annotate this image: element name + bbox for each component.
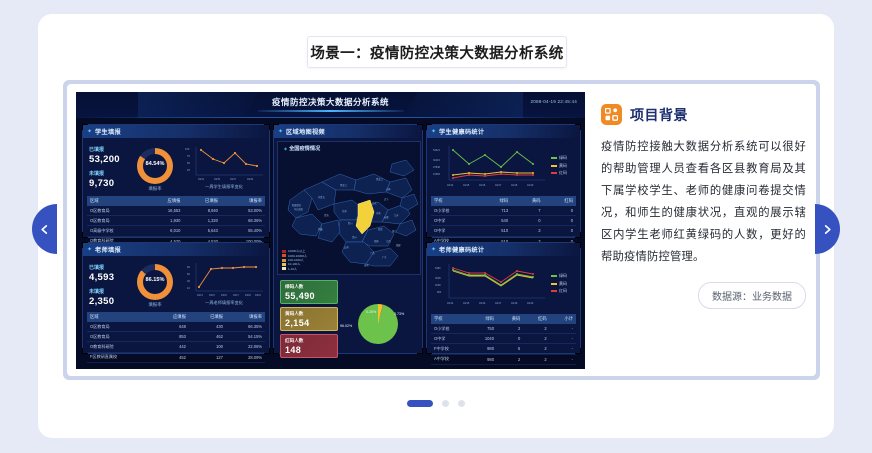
highlighted-province	[356, 200, 374, 234]
cell: 66.35%	[226, 322, 265, 332]
cell: 2	[497, 324, 523, 334]
svg-text:04/19: 04/19	[255, 295, 261, 297]
svg-text:30: 30	[187, 279, 190, 283]
col-header: 填报率	[221, 196, 265, 206]
panel-title: 学生填报	[95, 127, 121, 136]
svg-text:75: 75	[187, 154, 190, 158]
cell: 8,010	[146, 226, 184, 236]
svg-text:04/15: 04/15	[209, 295, 215, 297]
cell: 980	[470, 344, 497, 354]
map-legend: 10000人以上 1000-10000人 100-1000人 10-100人 1…	[282, 249, 307, 271]
svg-text:2048: 2048	[435, 284, 441, 287]
table-row: O中学 540 0 0	[431, 216, 576, 226]
pie-label-yellow: 3.73%	[394, 312, 404, 316]
cell: -	[550, 354, 576, 364]
cell: O区教育局	[87, 322, 152, 332]
teacher-table: 区域 应填报 已填报 填报率 O区教育局 648 430	[87, 312, 265, 363]
table-row: O区教育局 853 462 54.15%	[87, 332, 265, 342]
svg-text:04/15: 04/15	[214, 178, 221, 181]
panel-title: 学生健康码统计	[439, 127, 484, 136]
cell: 750	[470, 324, 497, 334]
cell: O中学	[431, 226, 479, 236]
table-row: A中学校 980 2 2 -	[431, 354, 576, 364]
col-header: 应填报	[146, 196, 184, 206]
pie-label-green: 96.02%	[340, 324, 352, 328]
svg-text:04/17: 04/17	[233, 295, 239, 297]
legend-label: 红码	[559, 170, 567, 175]
panel-body: 54803048 2048684 04/1404/1504/16 04/1704…	[427, 256, 580, 353]
cell: 430	[189, 322, 226, 332]
data-table: 区域 应填报 已填报 填报率 O区教育局 648 430	[87, 312, 265, 363]
cell: 2	[523, 344, 549, 354]
cell: 713	[479, 206, 511, 216]
carousel-dot-2[interactable]	[442, 400, 449, 407]
cell: O小学校	[431, 324, 470, 334]
col-header: 黄码	[511, 196, 543, 206]
panel-regional-map: ✦ 区域地图视频 全国疫情情况	[273, 124, 423, 354]
carousel-prev-button[interactable]	[32, 204, 57, 254]
svg-text:50: 50	[187, 161, 190, 165]
cell: 0	[544, 226, 576, 236]
panel-student-report: ✦ 学生填报 已填报 53,200 未填报 9,730	[82, 124, 270, 238]
svg-text:04/19: 04/19	[527, 302, 534, 305]
svg-text:04/17: 04/17	[495, 302, 502, 305]
cell: O区教育局	[87, 332, 152, 342]
panel-body: 已填报 53,200 未填报 9,730 84.54% 填报率	[83, 138, 269, 237]
cell: 980	[470, 354, 497, 364]
cell: 1,930	[146, 216, 184, 226]
table-row: F区教研直属校 452 127 28.09%	[87, 352, 265, 362]
cell: 68.36%	[221, 216, 265, 226]
student-code-table: 学校 绿码 黄码 红码 O小学校 713 7	[431, 196, 576, 247]
card-value: 148	[285, 345, 333, 355]
card-label: 绿码人数	[285, 284, 333, 290]
cell: 0	[511, 216, 543, 226]
card-label: 黄码人数	[285, 311, 333, 317]
panel-body: 全国疫情情况	[274, 138, 422, 353]
chart-caption: 一周学生填报率变化	[183, 184, 265, 190]
legend-label: 绿码	[559, 155, 567, 160]
ring-value: 86.15%	[137, 277, 173, 283]
legend-label: 红码	[559, 288, 567, 293]
svg-text:04/16: 04/16	[479, 184, 486, 187]
legend-item: 红码	[551, 287, 567, 295]
teacher-code-table: 学校 绿码 黄码 红码 小计 O小学校 750	[431, 314, 576, 365]
chevron-right-icon	[822, 224, 833, 235]
sparkle-icon: ✦	[87, 247, 92, 253]
cell: -	[550, 334, 576, 344]
svg-text:04/14: 04/14	[197, 295, 203, 297]
svg-text:04/18: 04/18	[511, 184, 518, 187]
cell: 5	[497, 344, 523, 354]
section-header: 项目背景	[601, 104, 806, 125]
svg-text:浙江: 浙江	[392, 229, 397, 233]
dashboard-title: 疫情防控决策大数据分析系统	[272, 96, 389, 108]
col-header: 绿码	[479, 196, 511, 206]
card-yellow-code: 黄码人数 2,154	[280, 307, 338, 331]
cell: O中学	[431, 334, 470, 344]
table-row: O中学 510 3 0	[431, 226, 576, 236]
cell: 0	[544, 216, 576, 226]
data-table: 学校 绿码 黄码 红码 小计 O小学校 750	[431, 314, 576, 365]
svg-text:04/15: 04/15	[463, 184, 470, 187]
teacher-trend-chart: 90 60 30 10 04/14 04/15 04/16 04/17 04/1…	[183, 260, 265, 304]
svg-text:04/19: 04/19	[527, 184, 534, 187]
svg-text:四川: 四川	[348, 222, 353, 225]
svg-text:27848: 27848	[433, 166, 441, 169]
svg-text:04/17: 04/17	[495, 184, 502, 187]
cell: F区教研直属校	[87, 352, 152, 362]
table-header-row: 区域 应填报 已填报 填报率	[87, 196, 265, 206]
svg-text:04/14: 04/14	[447, 302, 454, 305]
svg-text:04/14: 04/14	[447, 184, 454, 187]
svg-text:30415: 30415	[433, 159, 441, 162]
kpi-value: 4,593	[89, 272, 131, 283]
header-wing-right	[403, 92, 523, 118]
svg-text:10: 10	[187, 286, 190, 290]
section-title: 项目背景	[630, 105, 688, 125]
svg-text:684: 684	[437, 291, 442, 294]
data-table: 区域 应填报 已填报 填报率 O区教育局 16,553 8,940	[87, 196, 265, 247]
teacher-code-legend: 绿码 黄码 红码	[551, 272, 567, 295]
cell: 100	[189, 342, 226, 352]
table-row: O小学校 750 2 2 -	[431, 324, 576, 334]
cell: O小学校	[431, 206, 479, 216]
cell: 3	[511, 226, 543, 236]
table-header-row: 学校 绿码 黄码 红码 小计	[431, 314, 576, 324]
cell: 510	[479, 226, 511, 236]
cell: O中学	[431, 216, 479, 226]
svg-text:辽宁: 辽宁	[384, 197, 389, 201]
table-row: O小学校 713 7 0	[431, 206, 576, 216]
legend-item: 黄码	[551, 280, 567, 288]
kpi-value: 9,730	[89, 178, 131, 189]
header-wing-left	[138, 92, 258, 118]
cell: 8,940	[183, 206, 221, 216]
dashboard-grid-icon	[601, 104, 622, 125]
kpi-label: 已填报	[89, 146, 131, 153]
svg-text:10684: 10684	[433, 173, 441, 176]
sparkle-icon: ✦	[431, 129, 436, 135]
legend-label: 黄码	[559, 281, 567, 286]
pie-label-red: 0.26%	[366, 310, 376, 314]
svg-text:北京: 北京	[372, 201, 377, 205]
cell: 0	[497, 334, 523, 344]
table-row: O区教育局 16,553 8,940 53.00%	[87, 206, 265, 216]
legend-label: 1-10人	[288, 267, 297, 271]
chart-caption: 一周老师填报率变化	[183, 300, 265, 306]
scene-title-text: 场景一：疫情防控决策大数据分析系统	[310, 42, 563, 63]
carousel-pagination	[0, 400, 872, 407]
legend-label: 黄码	[559, 163, 567, 168]
cell: 1040	[470, 334, 497, 344]
student-trend-chart: 100 75 50 25 04/14 04/15 04/17 04/19 一周学…	[183, 144, 265, 188]
cell: 7	[511, 206, 543, 216]
svg-text:5480: 5480	[435, 267, 441, 270]
panel-title: 老师填报	[95, 245, 121, 254]
china-map[interactable]: 全国疫情情况	[277, 141, 421, 275]
svg-text:04/14: 04/14	[198, 178, 205, 181]
card-red-code: 红码人数 148	[280, 334, 338, 358]
cell: F中学校	[431, 344, 470, 354]
col-header: 已填报	[183, 196, 221, 206]
data-source-tag: 数据源：业务数据	[698, 282, 806, 309]
cell: O区教育局	[87, 206, 146, 216]
svg-text:福建: 福建	[396, 243, 401, 247]
cell: 1,320	[183, 216, 221, 226]
carousel-dot-3[interactable]	[458, 400, 465, 407]
svg-text:04/16: 04/16	[479, 302, 486, 305]
cell: 540	[479, 216, 511, 226]
panel-header: ✦ 老师填报	[83, 243, 269, 256]
svg-text:60: 60	[187, 272, 190, 276]
svg-text:04/18: 04/18	[511, 302, 518, 305]
table-row: F中学校 980 5 2 -	[431, 344, 576, 354]
svg-text:04/19: 04/19	[247, 178, 254, 181]
panel-teacher-report: ✦ 老师填报 已填报 4,593 未填报 2,350	[82, 242, 270, 354]
col-header: 区域	[87, 196, 146, 206]
svg-text:54021: 54021	[433, 149, 441, 152]
panel-title: 区域地图视频	[286, 127, 325, 136]
cell: 2	[497, 354, 523, 364]
ring-caption: 填报率	[137, 302, 173, 308]
section-body-text: 疫情防控接触大数据分析系统可以很好的帮助管理人员查看各区县教育局及其下属学校学生…	[601, 136, 806, 268]
health-code-pie	[358, 304, 398, 344]
title-underline	[258, 110, 404, 112]
student-kpi-group: 已填报 53,200 未填报 9,730	[89, 146, 131, 194]
cell: 648	[152, 322, 189, 332]
cell: 55.40%	[221, 226, 265, 236]
table-header-row: 区域 应填报 已填报 填报率	[87, 312, 265, 322]
cell: 442	[152, 342, 189, 352]
kpi-label: 未填报	[89, 288, 131, 295]
col-header: 应填报	[152, 312, 189, 322]
svg-text:04/16: 04/16	[221, 295, 227, 297]
cell: -	[550, 344, 576, 354]
cell: 53.00%	[221, 206, 265, 216]
legend-label: 绿码	[559, 273, 567, 278]
cell: 54.15%	[226, 332, 265, 342]
student-table: 区域 应填报 已填报 填报率 O区教育局 16,553 8,940	[87, 196, 265, 247]
cell: O教育科研院	[87, 342, 152, 352]
cell: 127	[189, 352, 226, 362]
cell: -	[550, 324, 576, 334]
card-green-code: 绿码人数 55,490	[280, 280, 338, 304]
panel-header: ✦ 学生填报	[83, 125, 269, 138]
cell: 853	[152, 332, 189, 342]
dashboard-timestamp: 2088-04-19 22:45:44	[531, 99, 577, 104]
cell: 22.06%	[226, 342, 265, 352]
ring-value: 84.54%	[137, 161, 173, 167]
page-root: 场景一：疫情防控决策大数据分析系统 疫情防控决策大数据分析系统 2088-04-…	[0, 0, 872, 453]
svg-text:90: 90	[187, 265, 190, 269]
table-row: O区教育局 1,930 1,320 68.36%	[87, 216, 265, 226]
panel-header: ✦ 老师健康码统计	[427, 243, 580, 256]
cell: 0	[544, 206, 576, 216]
cell: O高级中学校	[87, 226, 146, 236]
panel-body: 5402130415 2784810684 04/1404/1504/16 04…	[427, 138, 580, 237]
carousel-next-button[interactable]	[815, 204, 840, 254]
svg-text:25: 25	[187, 168, 190, 172]
student-code-chart: 5402130415 2784810684 04/1404/1504/16 04…	[429, 142, 547, 192]
svg-text:04/15: 04/15	[463, 302, 470, 305]
cell: O区教育局	[87, 216, 146, 226]
teacher-completion-ring: 86.15% 填报率	[137, 264, 177, 312]
scene-title-pill: 场景一：疫情防控决策大数据分析系统	[307, 36, 567, 68]
table-row: O区教育局 648 430 66.35%	[87, 322, 265, 332]
showcase-inner: 疫情防控决策大数据分析系统 2088-04-19 22:45:44 ✦ 学生填报	[67, 84, 816, 376]
cell: 2	[523, 324, 549, 334]
legend-item: 绿码	[551, 272, 567, 280]
project-background-section: 项目背景 疫情防控接触大数据分析系统可以很好的帮助管理人员查看各区县教育局及其下…	[601, 104, 806, 268]
kpi-label: 已填报	[89, 264, 131, 271]
sparkle-icon: ✦	[431, 247, 436, 253]
panel-body: 已填报 4,593 未填报 2,350 86.15% 填报率	[83, 256, 269, 353]
panel-title: 老师健康码统计	[439, 245, 484, 254]
kpi-value: 53,200	[89, 154, 131, 165]
panel-header: ✦ 区域地图视频	[274, 125, 422, 138]
cell: A中学校	[431, 354, 470, 364]
table-header-row: 学校 绿码 黄码 红码	[431, 196, 576, 206]
ring-caption: 填报率	[137, 186, 173, 192]
carousel-dot-1[interactable]	[407, 400, 433, 407]
table-row: O高级中学校 8,010 5,643 55.40%	[87, 226, 265, 236]
dashboard-preview: 疫情防控决策大数据分析系统 2088-04-19 22:45:44 ✦ 学生填报	[76, 92, 585, 369]
card-value: 2,154	[285, 318, 333, 328]
panel-header: ✦ 学生健康码统计	[427, 125, 580, 138]
legend-item: 黄码	[551, 162, 567, 170]
legend-item: 1-10人	[282, 267, 307, 271]
cell: 28.09%	[226, 352, 265, 362]
svg-text:04/17: 04/17	[230, 178, 237, 181]
cell: 16,553	[146, 206, 184, 216]
col-header: 绿码	[470, 314, 497, 324]
sparkle-icon: ✦	[278, 129, 283, 135]
sparkle-icon: ✦	[87, 129, 92, 135]
cell: 452	[152, 352, 189, 362]
col-header: 学校	[431, 196, 479, 206]
col-header: 区域	[87, 312, 152, 322]
col-header: 红码	[523, 314, 549, 324]
showcase-frame: 疫情防控决策大数据分析系统 2088-04-19 22:45:44 ✦ 学生填报	[63, 80, 820, 380]
student-code-legend: 绿码 黄码 红码	[551, 154, 567, 177]
cell: 2	[523, 334, 549, 344]
legend-item: 红码	[551, 169, 567, 177]
table-row: O教育科研院 442 100 22.06%	[87, 342, 265, 352]
kpi-value: 2,350	[89, 296, 131, 307]
student-completion-ring: 84.54% 填报率	[137, 148, 177, 196]
col-header: 小计	[550, 314, 576, 324]
panel-student-health-code: ✦ 学生健康码统计	[426, 124, 581, 238]
svg-text:青海: 青海	[324, 213, 329, 217]
kpi-label: 未填报	[89, 170, 131, 177]
cell: 2	[523, 354, 549, 364]
data-table: 学校 绿码 黄码 红码 O小学校 713 7	[431, 196, 576, 247]
legend-item: 绿码	[551, 154, 567, 162]
chevron-left-icon	[39, 224, 50, 235]
table-row: O中学 1040 0 2 -	[431, 334, 576, 344]
col-header: 填报率	[226, 312, 265, 322]
panel-teacher-health-code: ✦ 老师健康码统计	[426, 242, 581, 354]
svg-text:04/18: 04/18	[245, 295, 251, 297]
cell: 5,643	[183, 226, 221, 236]
cell: 462	[189, 332, 226, 342]
dashboard-header: 疫情防控决策大数据分析系统 2088-04-19 22:45:44	[76, 92, 585, 118]
col-header: 已填报	[189, 312, 226, 322]
card-label: 红码人数	[285, 338, 333, 344]
col-header: 红码	[544, 196, 576, 206]
teacher-code-chart: 54803048 2048684 04/1404/1504/16 04/1704…	[429, 260, 547, 310]
teacher-kpi-group: 已填报 4,593 未填报 2,350	[89, 264, 131, 312]
col-header: 学校	[431, 314, 470, 324]
svg-text:3048: 3048	[435, 277, 441, 280]
col-header: 黄码	[497, 314, 523, 324]
card-value: 55,490	[285, 291, 333, 301]
svg-text:100: 100	[185, 147, 190, 151]
